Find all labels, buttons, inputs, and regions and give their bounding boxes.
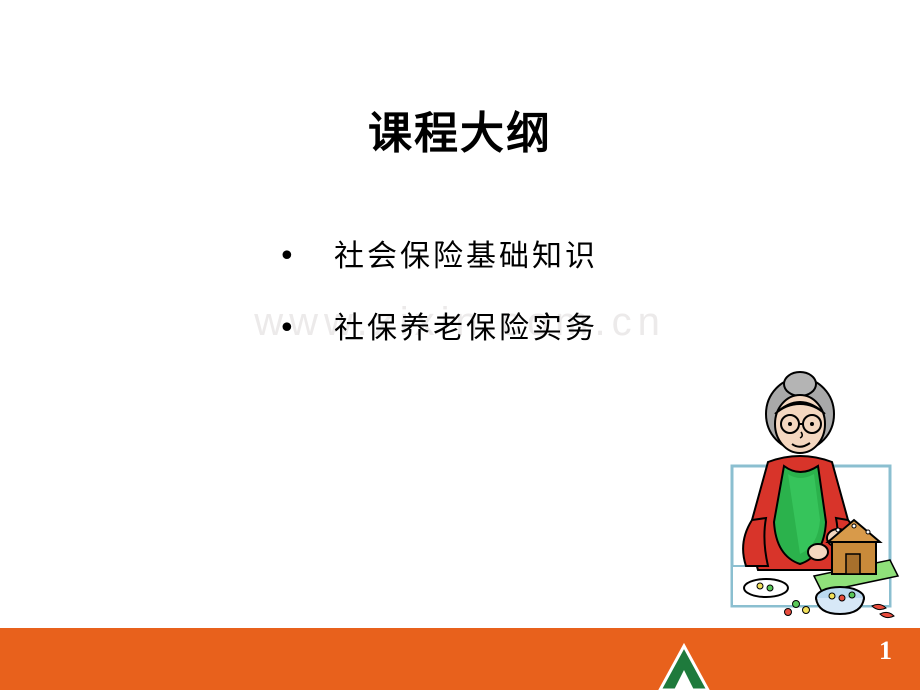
footer-bar — [0, 628, 920, 690]
bullet-text: 社会保险基础知识 — [334, 238, 598, 276]
bullet-marker-icon: • — [278, 310, 306, 348]
bullet-text: 社保养老保险实务 — [334, 310, 598, 348]
clipart-image — [722, 370, 900, 622]
list-item: • 社保养老保险实务 — [278, 310, 798, 348]
bullet-list: • 社会保险基础知识 • 社保养老保险实务 — [278, 238, 798, 382]
list-item: • 社会保险基础知识 — [278, 238, 798, 276]
triangle-logo-icon — [650, 640, 718, 690]
presentation-slide: 课程大纲 www.zixin.com.cn • 社会保险基础知识 • 社保养老保… — [0, 0, 920, 690]
page-number: 1 — [879, 636, 892, 666]
bullet-marker-icon: • — [278, 238, 306, 276]
page-title: 课程大纲 — [0, 110, 920, 158]
